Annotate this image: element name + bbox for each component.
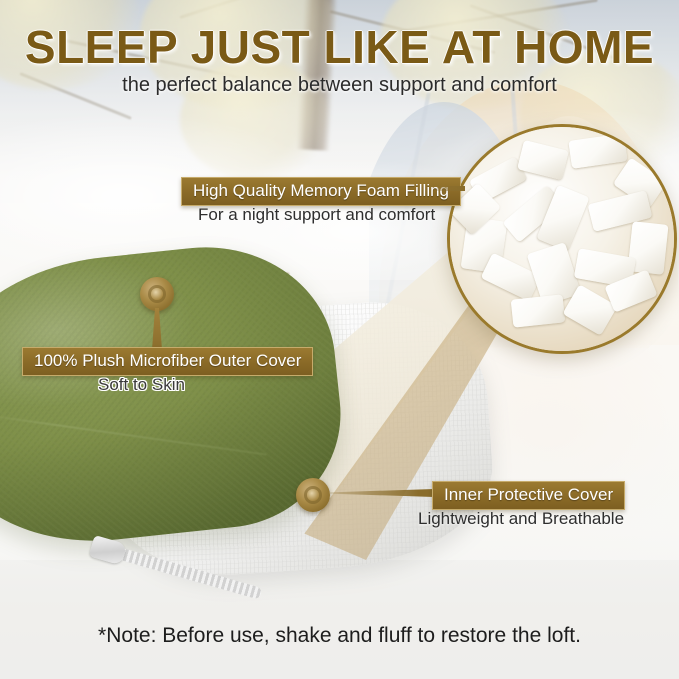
footer-note: *Note: Before use, shake and fluff to re… bbox=[0, 624, 679, 648]
memory-foam-inset bbox=[447, 124, 677, 354]
product-infographic: SLEEP JUST LIKE AT HOME the perfect bala… bbox=[0, 0, 679, 679]
foam-chunk bbox=[511, 294, 566, 327]
callout-marker-outer-cover[interactable] bbox=[140, 277, 174, 311]
callout-marker-inner-cover[interactable] bbox=[296, 478, 330, 512]
callout-label-memory-foam[interactable]: High Quality Memory Foam Filling bbox=[181, 177, 461, 206]
page-title: SLEEP JUST LIKE AT HOME bbox=[0, 20, 679, 74]
zipper-pull-icon bbox=[89, 535, 128, 566]
callout-label-inner-cover[interactable]: Inner Protective Cover bbox=[432, 481, 625, 510]
callout-caption-memory-foam: For a night support and comfort bbox=[198, 205, 435, 225]
callout-caption-outer-cover: Soft to Skin bbox=[98, 375, 185, 395]
callout-leader-line-memory-foam bbox=[437, 186, 465, 191]
callout-label-outer-cover[interactable]: 100% Plush Microfiber Outer Cover bbox=[22, 347, 313, 376]
callout-caption-inner-cover: Lightweight and Breathable bbox=[418, 509, 624, 529]
page-subtitle: the perfect balance between support and … bbox=[0, 74, 679, 97]
